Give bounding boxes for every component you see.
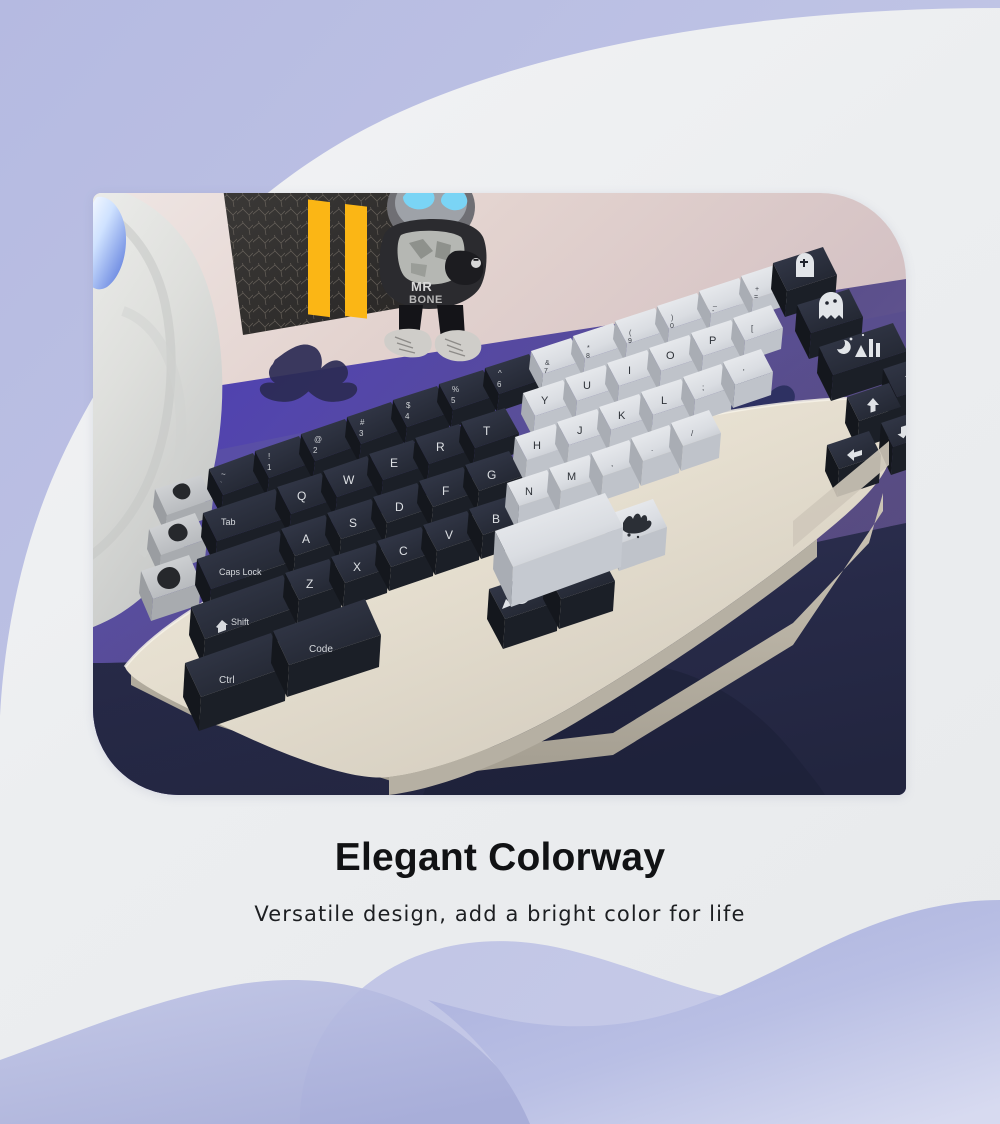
page-title: Elegant Colorway: [0, 836, 1000, 881]
svg-text:_: _: [712, 300, 717, 307]
svg-text:I: I: [628, 365, 631, 377]
svg-text:@: @: [314, 435, 322, 444]
svg-text:P: P: [709, 335, 716, 347]
svg-text:Ctrl: Ctrl: [219, 675, 235, 686]
svg-text:&: &: [545, 360, 550, 367]
svg-text:!: !: [268, 452, 270, 461]
svg-text:0: 0: [670, 323, 674, 330]
product-image-card: MR BONE: [93, 193, 906, 795]
svg-text:Tab: Tab: [221, 517, 236, 527]
svg-text:X: X: [353, 560, 361, 574]
svg-text:T: T: [483, 424, 491, 438]
svg-text:W: W: [343, 473, 355, 487]
svg-text:*: *: [587, 345, 590, 352]
svg-text:.: .: [651, 444, 653, 453]
svg-text:#: #: [360, 418, 365, 427]
page-subtitle: Versatile design, add a bright color for…: [0, 902, 1000, 926]
svg-text:5: 5: [451, 396, 456, 405]
svg-text:U: U: [583, 380, 591, 392]
svg-text:Code: Code: [309, 644, 333, 655]
svg-text:H: H: [533, 440, 541, 452]
svg-text:3: 3: [359, 429, 364, 438]
svg-text:N: N: [525, 486, 533, 498]
svg-text:$: $: [406, 401, 411, 410]
svg-text:9: 9: [628, 338, 632, 345]
svg-text:=: =: [754, 294, 758, 301]
svg-text:6: 6: [497, 380, 502, 389]
svg-text:;: ;: [702, 383, 704, 392]
tomb-icon: [796, 253, 814, 277]
svg-text:M: M: [567, 471, 576, 483]
svg-text:B: B: [492, 512, 500, 526]
figurine-brand-text: MR: [411, 279, 432, 294]
svg-text:): ): [671, 315, 673, 322]
svg-text:%: %: [452, 385, 459, 394]
svg-text:Shift: Shift: [231, 617, 250, 627]
svg-text:F: F: [442, 484, 449, 498]
svg-text:^: ^: [498, 369, 502, 378]
svg-text:S: S: [349, 516, 357, 530]
svg-text:4: 4: [405, 412, 410, 421]
svg-text:~: ~: [221, 470, 226, 479]
svg-text:K: K: [618, 410, 626, 422]
svg-text:D: D: [395, 500, 404, 514]
svg-text:L: L: [661, 395, 667, 407]
svg-text:,: ,: [611, 459, 613, 468]
svg-text:+: +: [755, 286, 759, 293]
svg-text:E: E: [390, 456, 398, 470]
svg-text:O: O: [666, 350, 675, 362]
svg-text:Y: Y: [541, 395, 549, 407]
svg-text:8: 8: [586, 353, 590, 360]
svg-text:R: R: [436, 440, 445, 454]
svg-text:V: V: [445, 528, 453, 542]
svg-text:Caps Lock: Caps Lock: [219, 567, 262, 577]
svg-text:Z: Z: [306, 577, 313, 591]
ghost-icon: [819, 292, 843, 319]
svg-text:BONE: BONE: [409, 294, 443, 306]
svg-text:1: 1: [267, 463, 272, 472]
svg-text:`: `: [220, 482, 222, 489]
svg-text:G: G: [487, 468, 496, 482]
svg-text:C: C: [399, 544, 408, 558]
svg-text:2: 2: [313, 446, 318, 455]
svg-text:J: J: [577, 425, 583, 437]
svg-text:Q: Q: [297, 489, 306, 503]
caption-block: Elegant Colorway Versatile design, add a…: [0, 836, 1000, 926]
svg-text:A: A: [302, 532, 310, 546]
svg-text:7: 7: [544, 368, 548, 375]
product-photo: MR BONE: [93, 193, 906, 795]
